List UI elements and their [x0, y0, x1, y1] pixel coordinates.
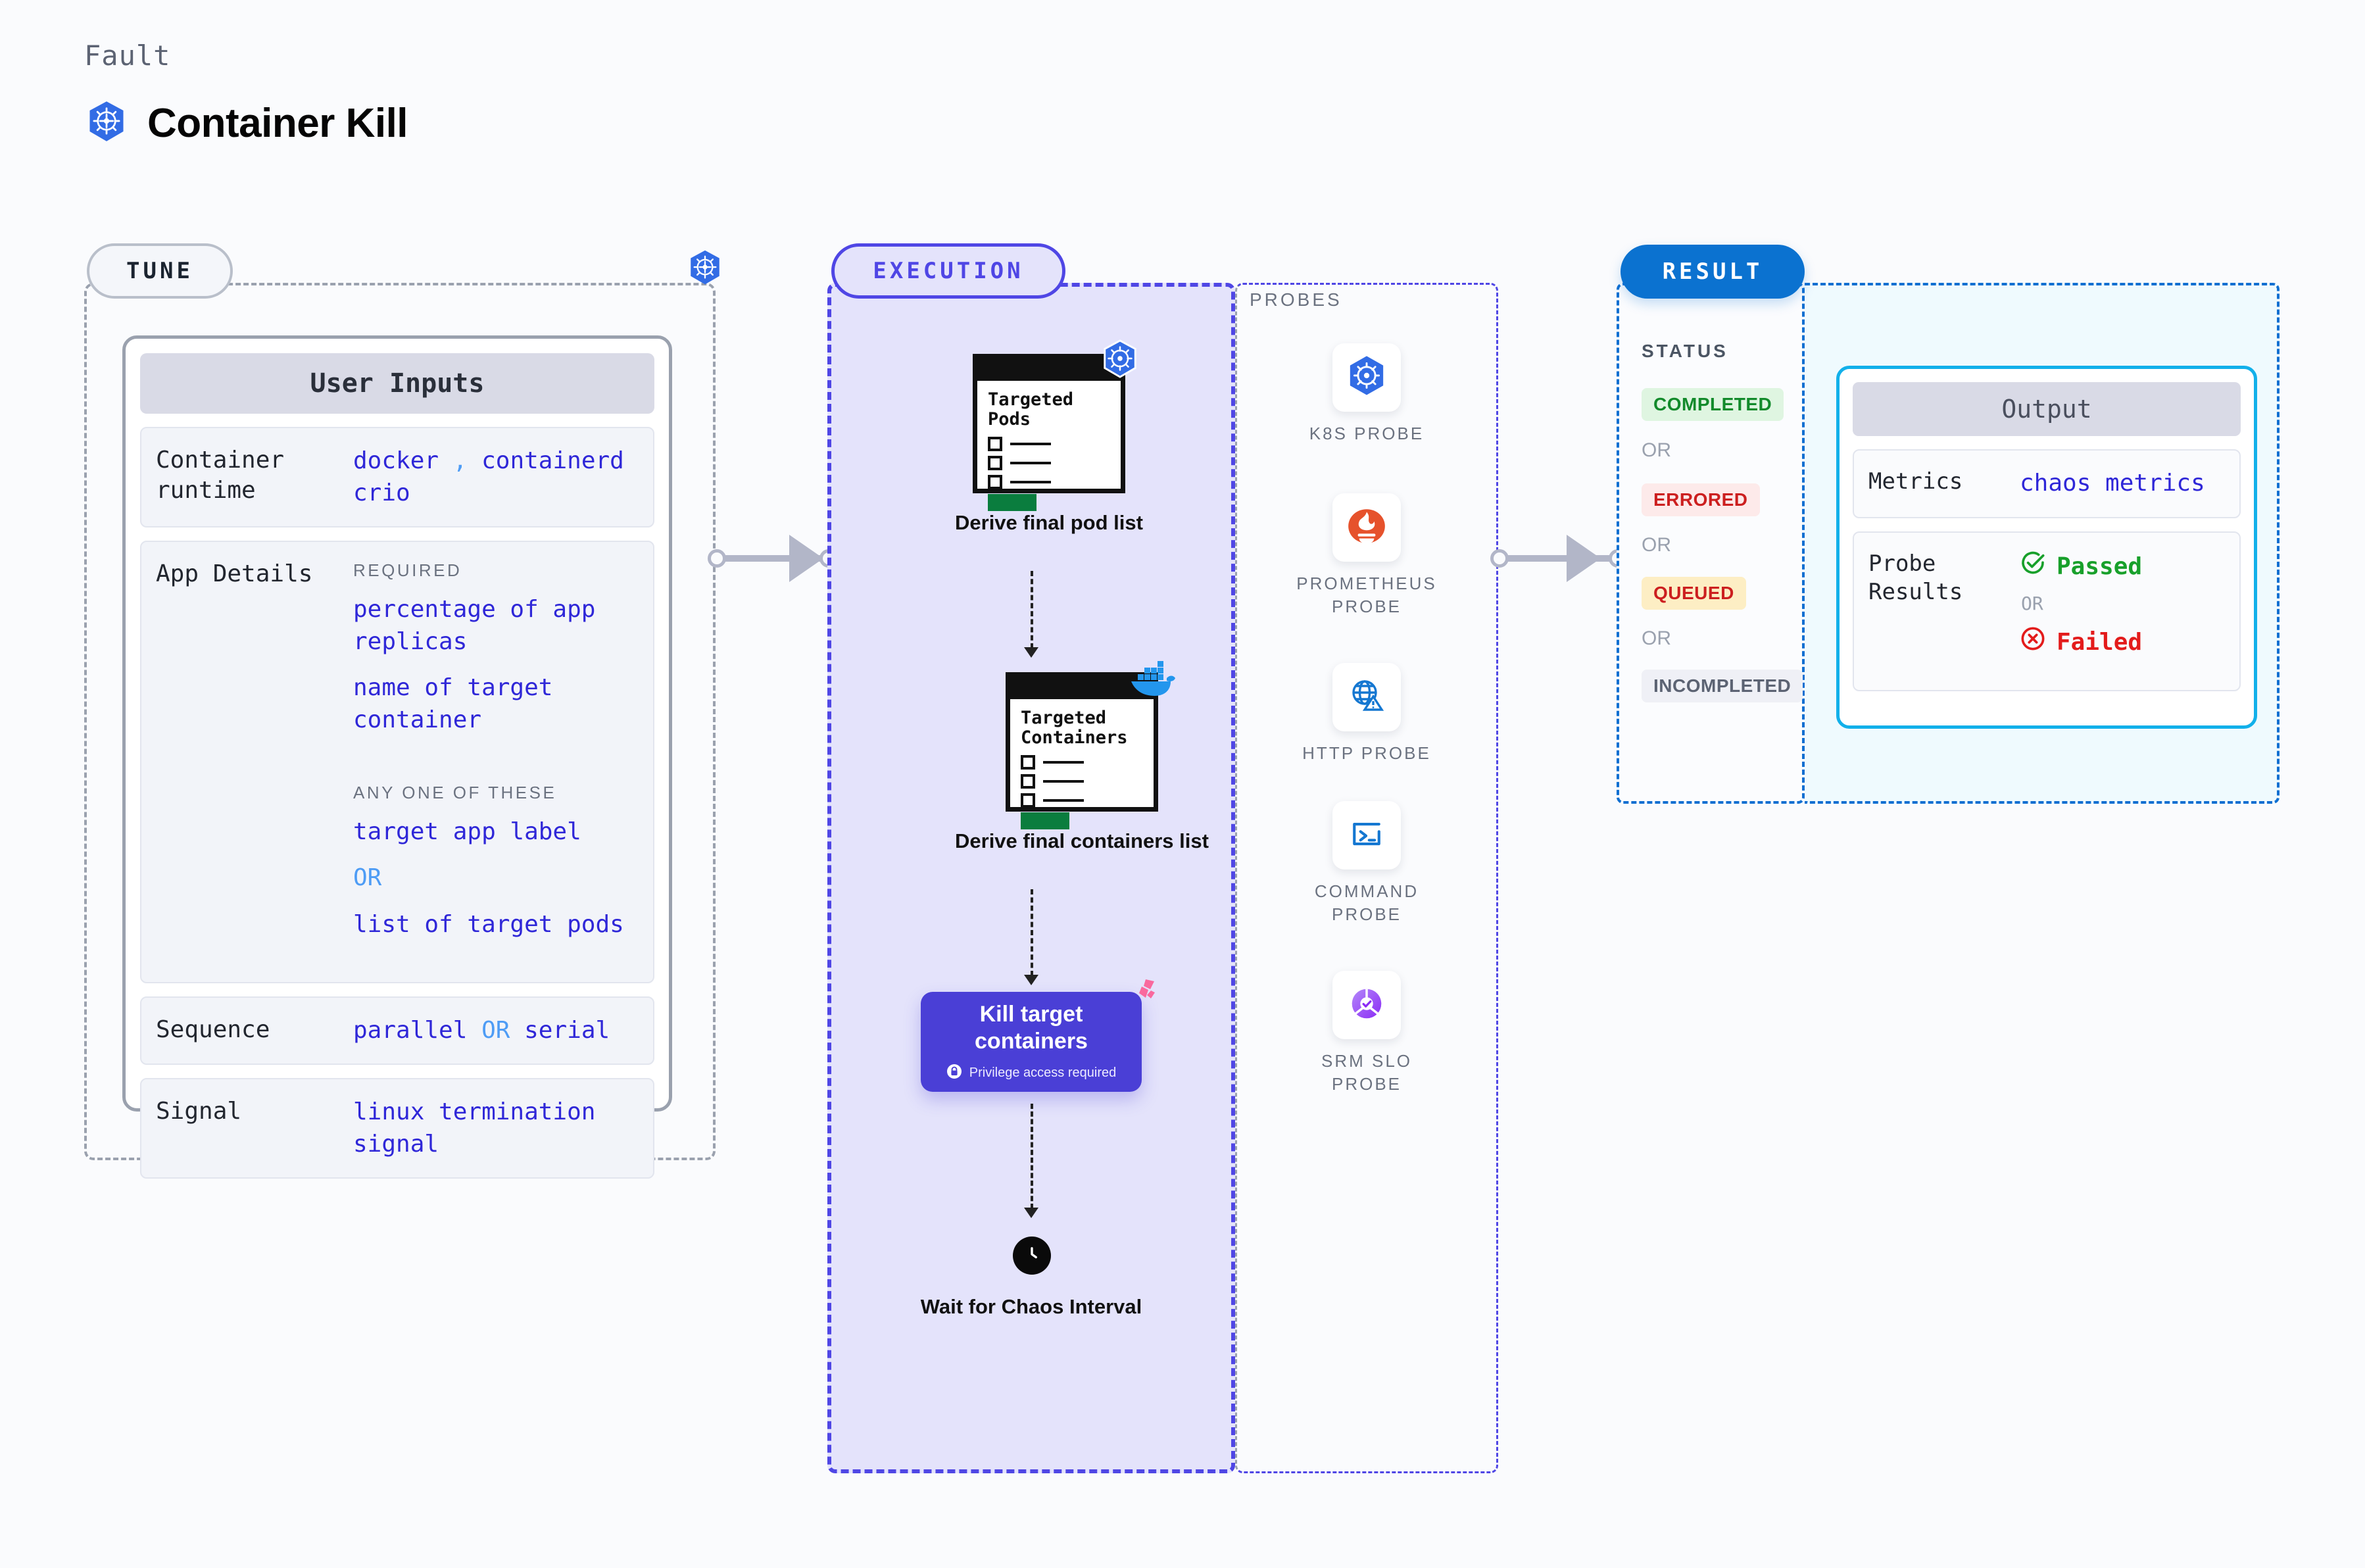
probe-result-failed: Failed — [2020, 625, 2225, 661]
connector-arrowhead — [1567, 535, 1601, 582]
kubernetes-logo-icon — [84, 99, 129, 147]
status-badge-completed: COMPLETED — [1642, 388, 1784, 421]
kill-node-title: Kill target containers — [921, 1001, 1142, 1054]
check-circle-icon — [2020, 550, 2046, 585]
lock-icon — [946, 1064, 962, 1083]
globe-warning-icon — [1346, 675, 1388, 720]
table-row: App Details REQUIRED percentage of app r… — [140, 541, 654, 983]
connector-arrowhead — [789, 535, 823, 582]
table-row: Signal linux terminationsignal — [140, 1078, 654, 1179]
flow-arrowhead — [1024, 647, 1038, 658]
row-key-signal: Signal — [156, 1096, 353, 1160]
fault-kicker-label: Fault — [84, 39, 408, 72]
row-value-signal: linux terminationsignal — [353, 1096, 639, 1160]
litmuschaos-logo-icon — [1126, 977, 1156, 1011]
placeholder-line — [1043, 780, 1084, 783]
probe-prometheus[interactable]: PROMETHEUS PROBE — [1235, 493, 1498, 618]
flow-node-wait-interval — [1013, 1237, 1051, 1275]
kubernetes-logo-icon — [1344, 353, 1390, 403]
row-value-container-runtime: docker , containerd crio — [353, 445, 639, 509]
green-bar — [1021, 812, 1069, 829]
probe-tile — [1332, 663, 1401, 731]
status-badge-incompleted: INCOMPLETED — [1642, 670, 1803, 702]
row-value-app-details: REQUIRED percentage of app replicas name… — [353, 559, 639, 955]
status-badge-errored: ERRORED — [1642, 483, 1760, 516]
probe-label: COMMAND PROBE — [1315, 880, 1419, 926]
row-key-probe-results: ProbeResults — [1868, 550, 2020, 668]
checkbox-icon — [988, 437, 1002, 451]
required-value: name of target container — [353, 672, 639, 736]
targeted-containers-card: Targeted Containers — [1006, 672, 1158, 812]
status-section-label: STATUS — [1642, 341, 1728, 362]
card-title: Targeted Containers — [1021, 708, 1143, 747]
flow-arrow — [1031, 1104, 1035, 1209]
table-row: ProbeResults Passed OR — [1853, 531, 2241, 691]
placeholder-line — [1010, 462, 1051, 464]
any-one-of-these-label: ANY ONE OF THESE — [353, 781, 639, 804]
x-circle-icon — [2020, 625, 2046, 661]
row-key-app-details: App Details — [156, 559, 353, 955]
card-checklist — [1021, 755, 1143, 829]
probe-tile — [1332, 493, 1401, 562]
required-label: REQUIRED — [353, 559, 639, 582]
connector-dot — [708, 549, 726, 568]
row-value-sequence: parallel OR serial — [353, 1015, 639, 1047]
clock-icon — [1021, 1243, 1043, 1269]
result-chip: RESULT — [1621, 245, 1805, 299]
page-title-row: Container Kill — [84, 99, 408, 147]
green-bar — [988, 494, 1036, 511]
terminal-icon — [1347, 814, 1386, 857]
row-key-sequence: Sequence — [156, 1015, 353, 1047]
anyone-value: list of target pods — [353, 909, 639, 941]
placeholder-line — [1010, 481, 1051, 483]
probe-command[interactable]: COMMAND PROBE — [1235, 801, 1498, 926]
anyone-value: target app label — [353, 816, 639, 848]
placeholder-line — [1010, 443, 1051, 445]
row-key-metrics: Metrics — [1868, 468, 2020, 500]
targeted-pods-card: Targeted Pods — [973, 354, 1125, 493]
flow-node-derive-pods: Targeted Pods Derive final pod lis — [955, 354, 1143, 535]
table-row: Containerruntime docker , containerd cri… — [140, 427, 654, 527]
user-inputs-title: User Inputs — [140, 353, 654, 414]
row-value-probe-results: Passed OR Failed — [2020, 550, 2225, 668]
flow-node-derive-containers: Targeted Containers Derive final — [955, 672, 1209, 854]
flow-node-kill-target-containers[interactable]: Kill target containers Privilege access … — [921, 992, 1142, 1092]
page-title: Container Kill — [147, 100, 408, 147]
flow-node-label: Derive final containers list — [955, 829, 1209, 854]
row-key-container-runtime: Containerruntime — [156, 445, 353, 509]
flow-node-label: Derive final pod list — [955, 510, 1143, 535]
tune-chip: TUNE — [87, 243, 233, 299]
probe-label: K8S PROBE — [1309, 422, 1424, 445]
connector-dot — [1490, 549, 1509, 568]
probe-http[interactable]: HTTP PROBE — [1235, 663, 1498, 765]
flow-arrow — [1031, 889, 1035, 976]
placeholder-line — [1043, 799, 1084, 802]
placeholder-line — [1043, 761, 1084, 764]
status-or: OR — [1642, 439, 1671, 462]
anyone-or: OR — [353, 862, 639, 894]
status-or: OR — [1642, 627, 1671, 650]
probe-result-passed: Passed — [2020, 550, 2225, 585]
output-card: Output Metrics chaos metrics ProbeResult… — [1836, 366, 2257, 729]
probe-srm-slo[interactable]: SRM SLO PROBE — [1235, 971, 1498, 1096]
checkbox-icon — [988, 475, 1002, 489]
flow-arrowhead — [1024, 1208, 1038, 1218]
probe-label: SRM SLO PROBE — [1321, 1050, 1412, 1096]
checkbox-icon — [1021, 755, 1035, 770]
row-value-metrics: chaos metrics — [2020, 468, 2225, 500]
status-or: OR — [1642, 534, 1671, 556]
wait-interval-label: Wait for Chaos Interval — [908, 1294, 1155, 1319]
probe-label: PROMETHEUS PROBE — [1296, 572, 1436, 618]
card-checklist — [988, 437, 1110, 511]
checkbox-icon — [1021, 774, 1035, 789]
probe-tile — [1332, 343, 1401, 412]
user-inputs-card: User Inputs Containerruntime docker , co… — [122, 335, 672, 1112]
status-badge-queued: QUEUED — [1642, 577, 1746, 610]
docker-logo-icon — [1127, 660, 1176, 702]
execution-chip: EXECUTION — [831, 243, 1065, 299]
table-row: Sequence parallel OR serial — [140, 996, 654, 1066]
srm-slo-icon — [1346, 983, 1387, 1027]
kubernetes-badge-icon — [1100, 339, 1140, 383]
output-title: Output — [1853, 382, 2241, 436]
tune-kubernetes-corner-icon — [686, 249, 724, 290]
prometheus-logo-icon — [1345, 504, 1388, 551]
privilege-note: Privilege access required — [946, 1064, 1116, 1083]
probe-tile — [1332, 971, 1401, 1039]
checkbox-icon — [1021, 793, 1035, 808]
table-row: Metrics chaos metrics — [1853, 449, 2241, 518]
flow-arrowhead — [1024, 975, 1038, 985]
probes-section-label: PROBES — [1250, 289, 1342, 310]
probe-result-or: OR — [2021, 591, 2225, 616]
probe-label: HTTP PROBE — [1302, 742, 1431, 765]
card-title: Targeted Pods — [988, 390, 1110, 429]
probe-tile — [1332, 801, 1401, 870]
probe-k8s[interactable]: K8S PROBE — [1235, 343, 1498, 445]
required-value: percentage of app replicas — [353, 594, 639, 658]
page-header: Fault — [84, 39, 408, 147]
checkbox-icon — [988, 456, 1002, 470]
flow-arrow — [1031, 571, 1035, 649]
